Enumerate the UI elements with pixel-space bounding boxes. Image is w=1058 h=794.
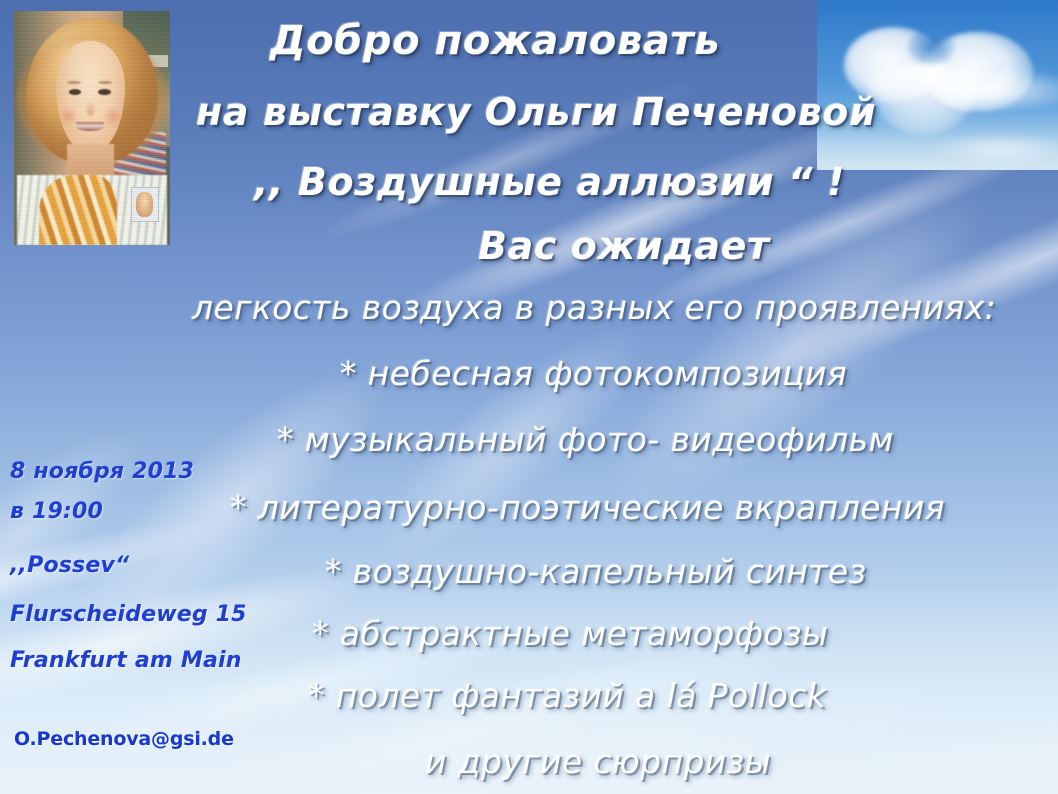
artist-portrait-photo	[14, 11, 170, 245]
portrait-cheek-right	[103, 107, 123, 126]
headline-line-1: Добро пожаловать	[270, 18, 720, 64]
badge-photo	[136, 192, 153, 217]
event-date: 8 ноября 2013	[10, 459, 194, 484]
headline-line-2: на выставку Ольги Печеновой	[196, 90, 876, 134]
venue-name: ,,Possev“	[10, 553, 129, 578]
program-line-2: * небесная фотокомпозиция	[340, 354, 847, 393]
heart-center-notch	[908, 29, 954, 64]
program-line-4: * литературно-поэтические вкрапления	[230, 488, 945, 527]
headline-line-4: Вас ожидает	[478, 224, 770, 268]
program-line-5: * воздушно-капельный синтез	[325, 552, 867, 591]
venue-city: Frankfurt am Main	[10, 648, 242, 673]
portrait-orange-scarf	[39, 175, 117, 245]
program-line-1: легкость воздуха в разных его проявления…	[192, 288, 996, 327]
portrait-nose	[85, 100, 96, 116]
portrait-neck	[67, 144, 114, 177]
heart-cloud-photo	[817, 0, 1058, 170]
program-line-6: * абстрактные метаморфозы	[312, 614, 828, 653]
event-time: в 19:00	[10, 499, 103, 524]
contact-email[interactable]: O.Pechenova@gsi.de	[14, 728, 234, 750]
portrait-name-badge	[131, 187, 160, 222]
venue-street: Flurscheideweg 15	[10, 602, 247, 627]
portrait-mouth	[76, 122, 104, 130]
program-line-3: * музыкальный фото- видеофильм	[277, 420, 894, 459]
poster-slide: Добро пожаловать на выставку Ольги Печен…	[0, 0, 1058, 794]
portrait-cheek-left	[58, 107, 78, 126]
program-line-7: * полет фантазий а lá Pollock	[308, 676, 826, 715]
headline-line-3: ,, Воздушные аллюзии “ !	[254, 160, 845, 204]
program-line-8: и другие сюрпризы	[425, 742, 771, 781]
